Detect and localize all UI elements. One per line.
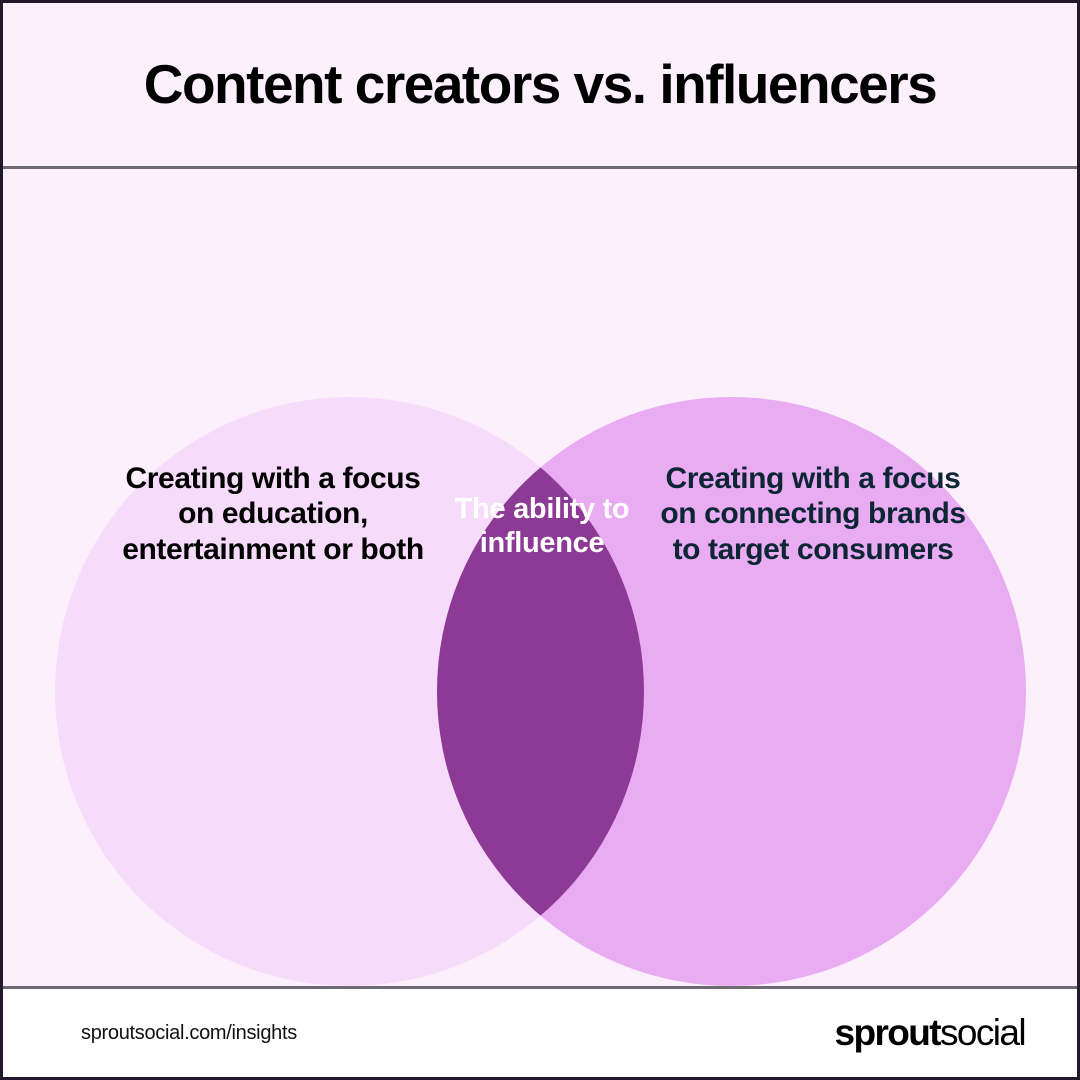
infographic-page: Content creators vs. influencers Creatin… bbox=[0, 0, 1080, 1080]
footer-url[interactable]: sproutsocial.com/insights bbox=[81, 1022, 297, 1045]
venn-label-left: Creating with a focus on education, ente… bbox=[113, 461, 433, 567]
venn-diagram: Creating with a focus on education, ente… bbox=[3, 169, 1077, 986]
sprout-social-logo: sproutsocial bbox=[834, 1012, 1025, 1054]
logo-social-text: social bbox=[940, 1012, 1025, 1054]
footer: sproutsocial.com/insights sproutsocial bbox=[3, 989, 1077, 1077]
page-title: Content creators vs. influencers bbox=[144, 57, 937, 112]
venn-label-right: Creating with a focus on connecting bran… bbox=[653, 461, 973, 567]
venn-label-overlap: The ability to influence bbox=[438, 492, 646, 560]
logo-sprout-text: sprout bbox=[834, 1012, 940, 1054]
header: Content creators vs. influencers bbox=[3, 3, 1077, 166]
